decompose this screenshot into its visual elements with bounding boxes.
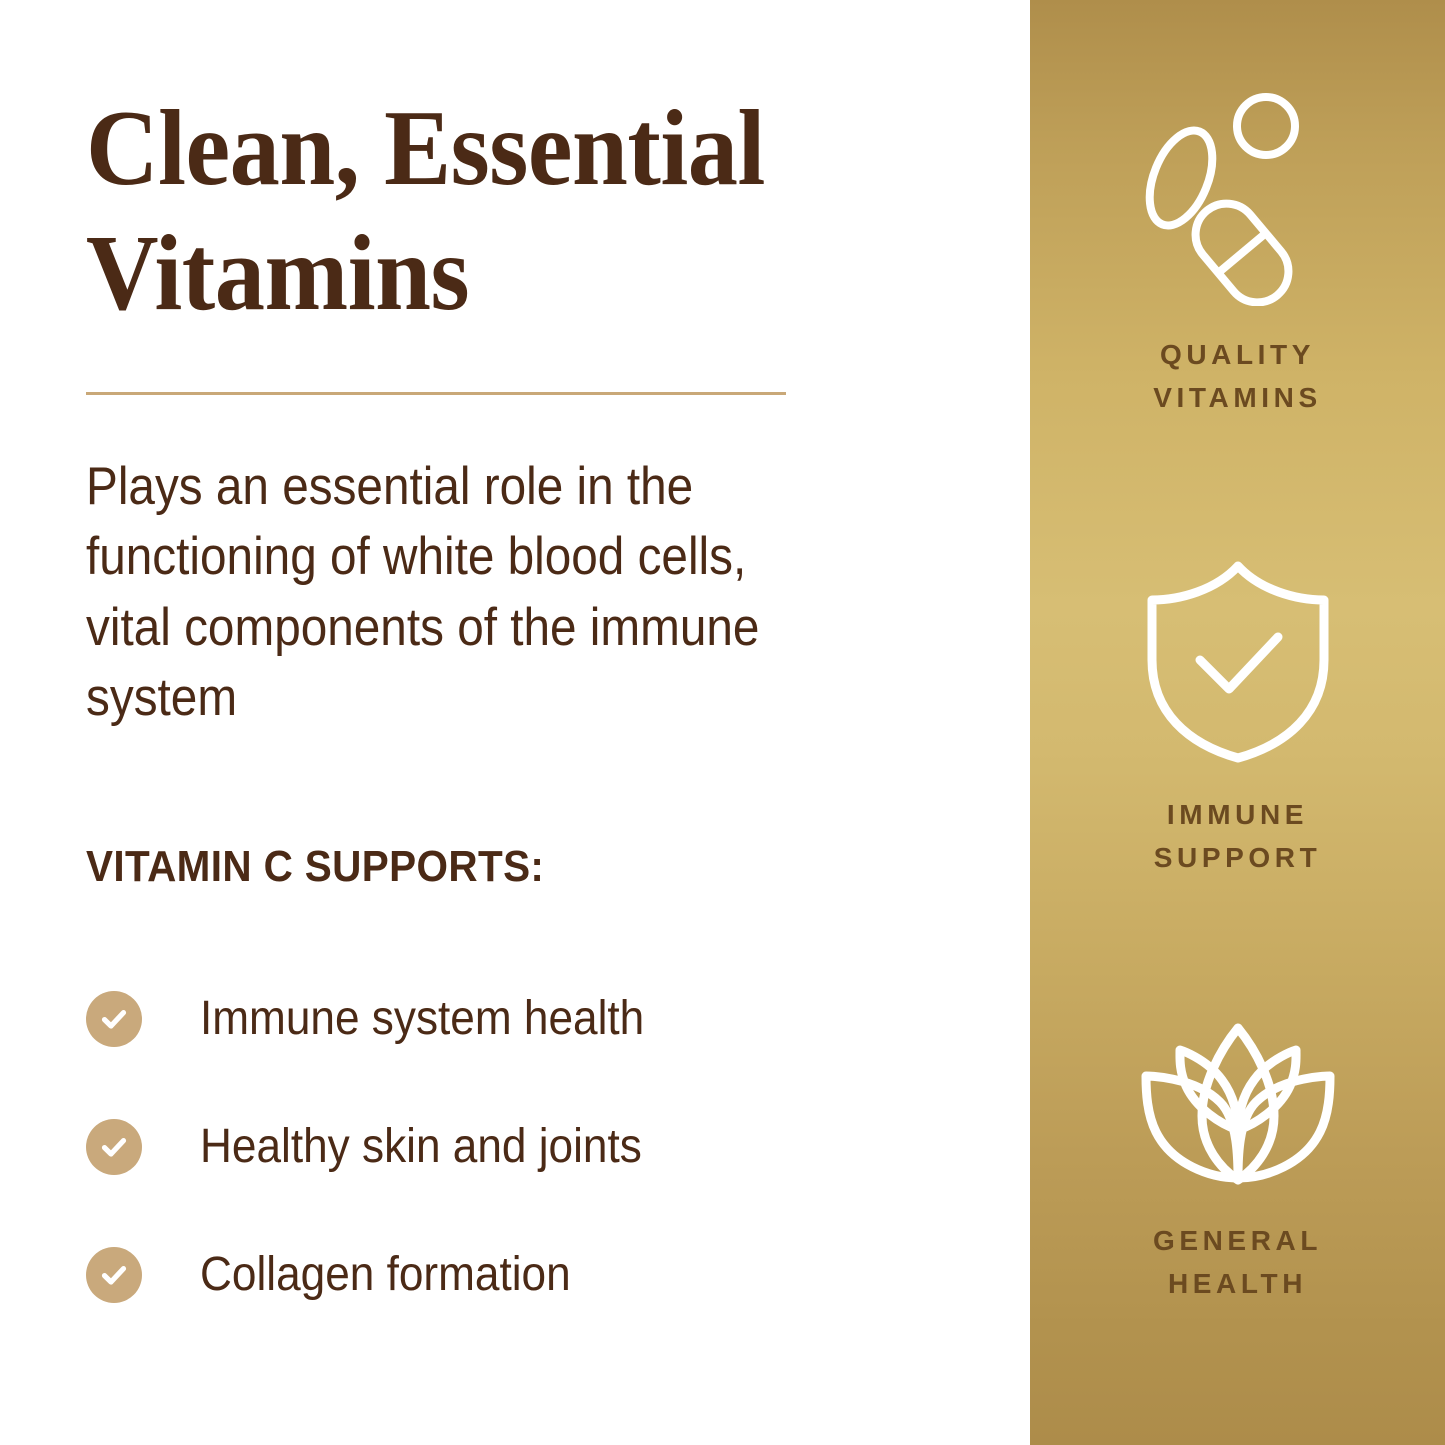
content-column: Clean, EssentialVitamins Plays an essent… <box>0 0 1030 1445</box>
benefit-label: Collagen formation <box>200 1249 571 1302</box>
panel-feature-immune-support: IMMUNE SUPPORT <box>1030 556 1445 880</box>
page-title: Clean, EssentialVitamins <box>86 86 904 337</box>
shield-check-icon <box>1138 556 1338 771</box>
check-icon <box>86 1119 142 1175</box>
supports-heading: VITAMIN C SUPPORTS: <box>86 843 544 891</box>
benefit-label: Immune system health <box>200 993 644 1046</box>
panel-feature-quality-vitamins: QUALITY VITAMINS <box>1030 88 1445 420</box>
panel-feature-label: QUALITY VITAMINS <box>1153 333 1322 420</box>
page-title-line-1: Clean, Essential <box>86 89 765 208</box>
lotus-flower-icon <box>1132 1020 1344 1197</box>
pills-icon <box>1133 88 1343 311</box>
benefit-label: Healthy skin and joints <box>200 1121 642 1174</box>
benefits-side-panel: QUALITY VITAMINS IMMUNE SUPPORT <box>1030 0 1445 1445</box>
panel-feature-general-health: GENERAL HEALTH <box>1030 1020 1445 1306</box>
panel-feature-label: IMMUNE SUPPORT <box>1154 793 1322 880</box>
check-icon <box>86 1247 142 1303</box>
title-divider <box>86 392 786 395</box>
list-item: Collagen formation <box>86 1211 946 1339</box>
page-title-line-2: Vitamins <box>86 214 469 333</box>
product-feature-panel: Clean, EssentialVitamins Plays an essent… <box>0 0 1445 1445</box>
list-item: Immune system health <box>86 955 946 1083</box>
panel-feature-label: GENERAL HEALTH <box>1153 1219 1322 1306</box>
check-icon <box>86 991 142 1047</box>
lede-paragraph: Plays an essential role in the functioni… <box>86 452 797 734</box>
list-item: Healthy skin and joints <box>86 1083 946 1211</box>
benefits-list: Immune system health Healthy skin and jo… <box>86 955 946 1339</box>
